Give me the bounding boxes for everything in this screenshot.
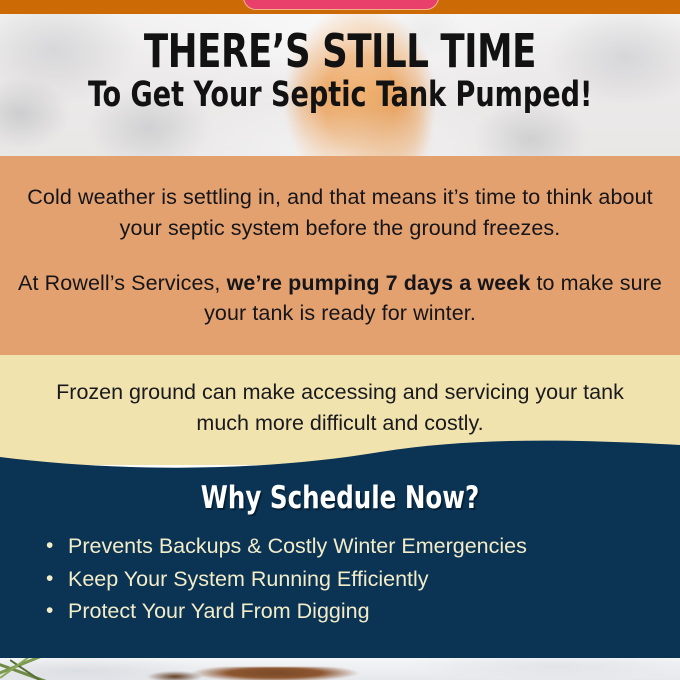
benefits-list: •Prevents Backups & Costly Winter Emerge… xyxy=(0,530,680,628)
navy-content-block: Why Schedule Now? •Prevents Backups & Co… xyxy=(0,420,680,658)
list-item-label: Keep Your System Running Efficiently xyxy=(68,567,429,591)
navy-benefits-section: Why Schedule Now? •Prevents Backups & Co… xyxy=(0,420,680,658)
tan-paragraph-two-lead: At Rowell’s Services, xyxy=(18,271,227,295)
benefits-heading: Why Schedule Now? xyxy=(41,480,639,516)
tan-paragraph-two: At Rowell’s Services, we’re pumping 7 da… xyxy=(10,268,670,329)
list-item: •Keep Your System Running Efficiently xyxy=(40,563,680,596)
bullet-dot-icon: • xyxy=(46,595,53,627)
top-pill-button[interactable] xyxy=(243,0,439,10)
footer-photo-band xyxy=(0,657,680,680)
bullet-dot-icon: • xyxy=(46,530,53,562)
poster-root: THERE’S STILL TIME To Get Your Septic Ta… xyxy=(0,0,680,680)
list-item-label: Prevents Backups & Costly Winter Emergen… xyxy=(68,534,527,558)
list-item: •Protect Your Yard From Digging xyxy=(40,595,680,628)
page-subtitle: To Get Your Septic Tank Pumped! xyxy=(88,77,592,114)
tan-paragraph-two-emphasis: we’re pumping 7 days a week xyxy=(227,271,531,295)
tan-message-section: Cold weather is settling in, and that me… xyxy=(0,156,680,355)
page-title: THERE’S STILL TIME xyxy=(144,28,536,75)
tan-paragraph-one: Cold weather is settling in, and that me… xyxy=(10,182,670,243)
list-item: •Prevents Backups & Costly Winter Emerge… xyxy=(40,530,680,563)
bullet-dot-icon: • xyxy=(46,563,53,595)
list-item-label: Protect Your Yard From Digging xyxy=(68,599,370,623)
hero-text-block: THERE’S STILL TIME To Get Your Septic Ta… xyxy=(0,0,680,142)
grass-blades-icon xyxy=(0,657,170,680)
